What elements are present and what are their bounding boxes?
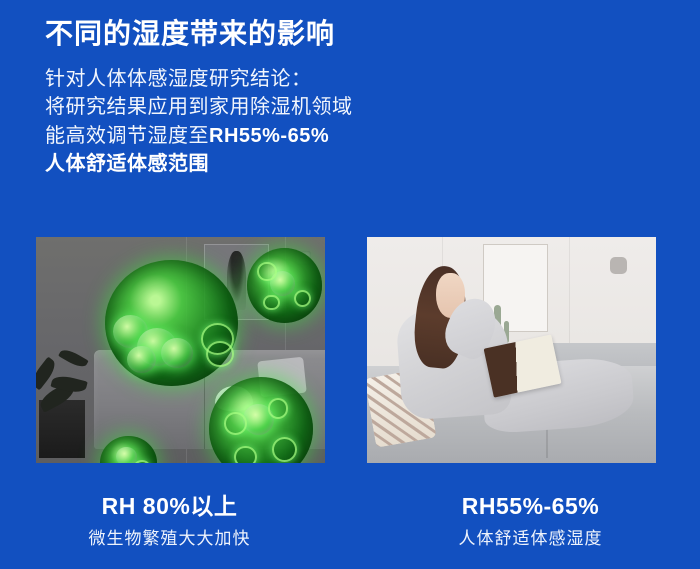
panel-comfort-humidity-image bbox=[367, 237, 656, 463]
humidity-comparison-poster: 不同的湿度带来的影响 针对人体体感湿度研究结论： 将研究结果应用到家用除湿机领域… bbox=[0, 0, 700, 569]
body-copy: 针对人体体感湿度研究结论： 将研究结果应用到家用除湿机领域 能高效调节湿度至RH… bbox=[45, 65, 665, 179]
caption-head: RH55%-65% bbox=[361, 492, 700, 522]
body-line-2: 将研究结果应用到家用除湿机领域 bbox=[45, 93, 665, 121]
page-title: 不同的湿度带来的影响 bbox=[45, 16, 665, 51]
bright-room-scene bbox=[367, 237, 656, 463]
caption-high-humidity: RH 80%以上 微生物繁殖大大加快 bbox=[0, 492, 349, 551]
wall-speaker-icon bbox=[610, 257, 627, 274]
captions-row: RH 80%以上 微生物繁殖大大加快 RH55%-65% 人体舒适体感湿度 bbox=[0, 492, 700, 551]
microbe-sphere bbox=[105, 260, 238, 387]
caption-comfort-humidity: RH55%-65% 人体舒适体感湿度 bbox=[349, 492, 700, 551]
caption-sub: 人体舒适体感湿度 bbox=[361, 527, 700, 551]
body-line-3: 能高效调节湿度至RH55%-65% bbox=[45, 122, 665, 150]
panel-high-humidity-image bbox=[36, 237, 325, 463]
caption-sub: 微生物繁殖大大加快 bbox=[0, 527, 339, 551]
caption-head: RH 80%以上 bbox=[0, 492, 339, 522]
humidity-range-highlight: RH55%-65% bbox=[209, 125, 329, 147]
body-line-3-prefix: 能高效调节湿度至 bbox=[45, 125, 209, 147]
body-line-4: 人体舒适体感范围 bbox=[45, 150, 665, 178]
body-line-1: 针对人体体感湿度研究结论： bbox=[45, 65, 665, 93]
heading-block: 不同的湿度带来的影响 针对人体体感湿度研究结论： 将研究结果应用到家用除湿机领域… bbox=[45, 16, 665, 179]
dim-room-scene bbox=[36, 237, 325, 463]
microbe-sphere bbox=[247, 248, 322, 323]
